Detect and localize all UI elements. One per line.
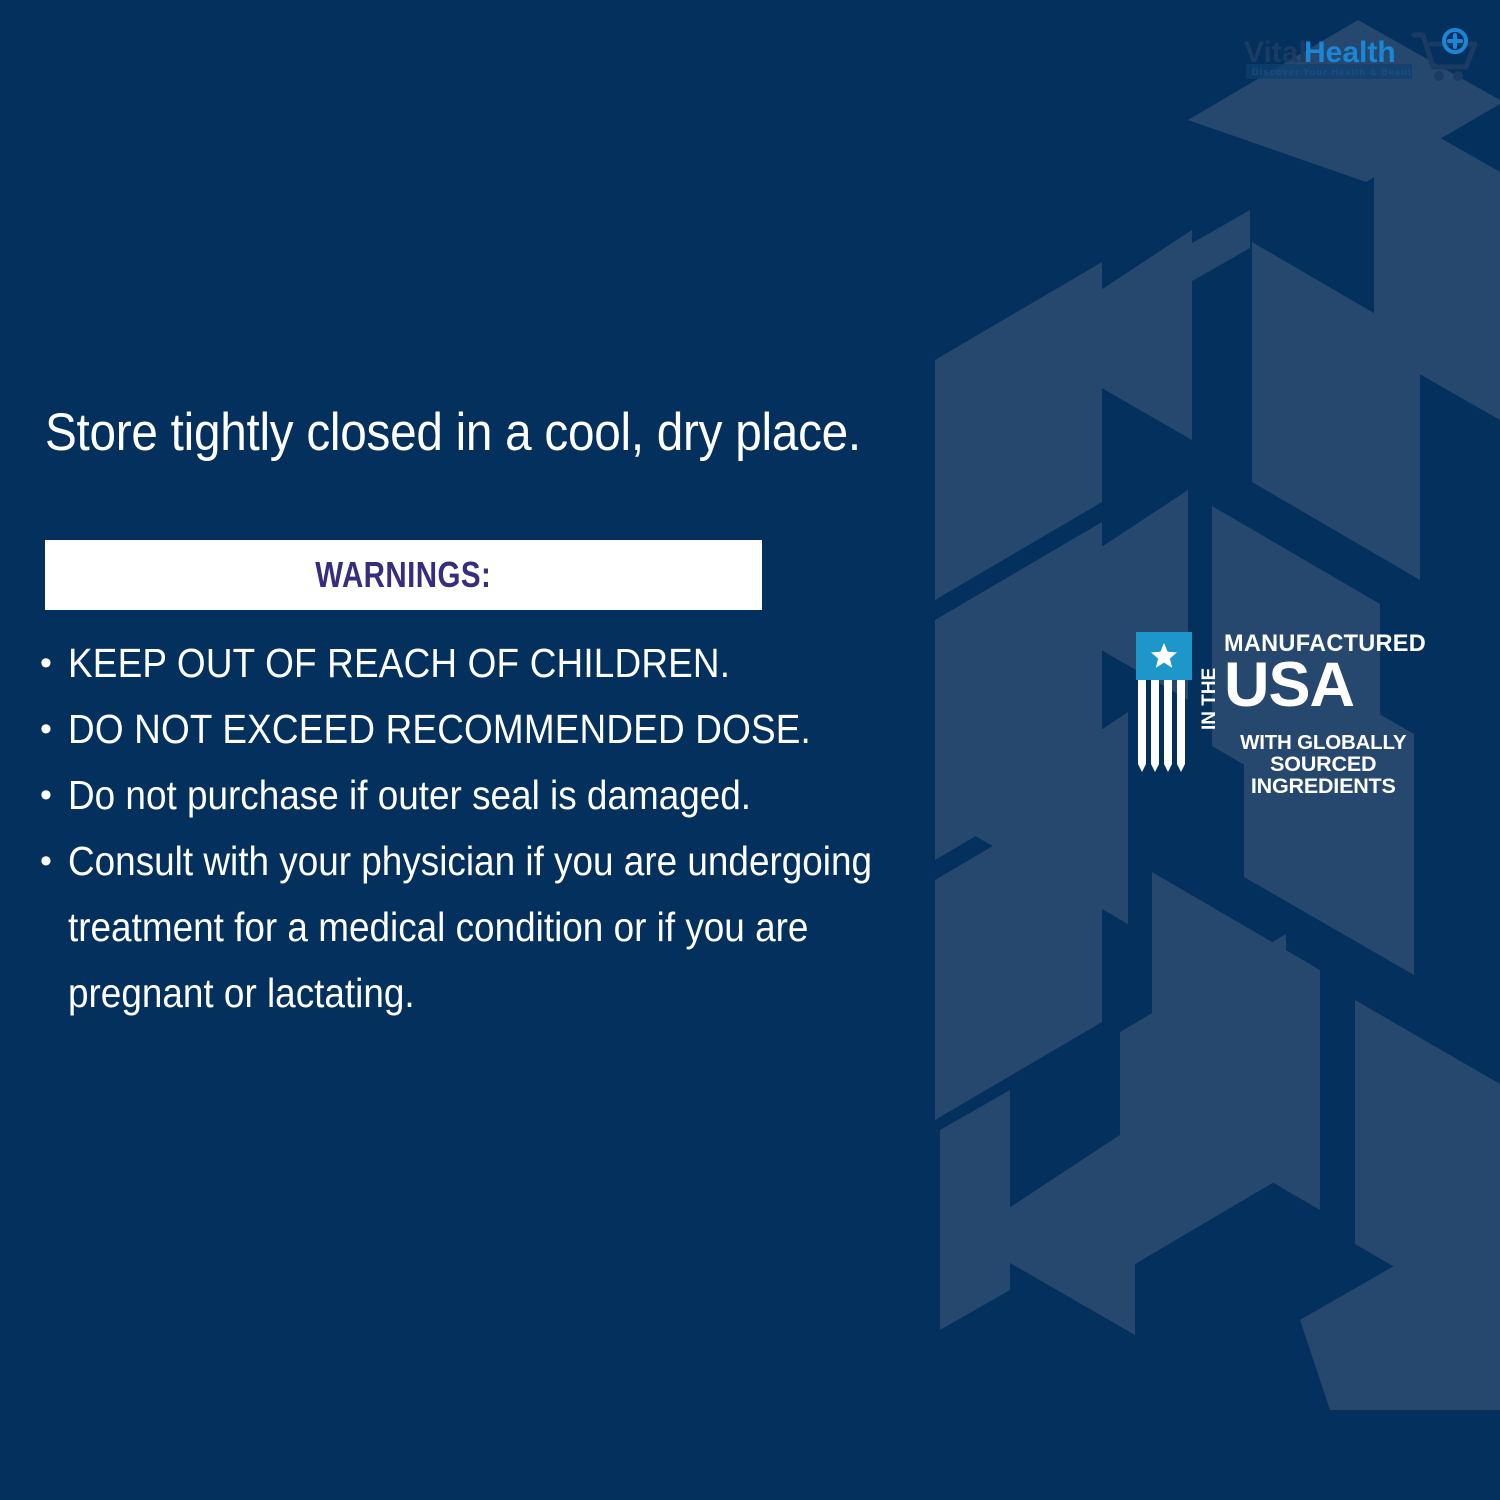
flag-stripes-icon: [1136, 680, 1192, 774]
list-item: • DO NOT EXCEED RECOMMENDED DOSE.: [40, 696, 1000, 762]
list-item: • Consult with your physician if you are…: [40, 828, 1000, 1026]
bullet-icon: •: [40, 762, 68, 828]
badge-in-the-label: IN THE: [1200, 634, 1219, 730]
logo-word-health: Health: [1304, 36, 1396, 69]
warnings-header-bar: WARNINGS:: [45, 540, 762, 610]
warning-text: KEEP OUT OF REACH OF CHILDREN.: [68, 630, 907, 696]
badge-usa-label: USA: [1224, 659, 1354, 713]
star-icon: [1149, 641, 1179, 671]
badge-star-box: [1136, 632, 1192, 680]
manufactured-in-usa-badge: IN THE MANUFACTURED USA WITH GLOBALLY SO…: [1136, 632, 1404, 774]
list-item: • KEEP OUT OF REACH OF CHILDREN.: [40, 630, 1000, 696]
badge-flag-graphic: [1136, 632, 1192, 774]
warnings-list: • KEEP OUT OF REACH OF CHILDREN. • DO NO…: [40, 630, 1000, 1026]
warnings-title: WARNINGS:: [316, 554, 492, 596]
brand-logo[interactable]: Vital Health Discover Your Health & Beau…: [1242, 24, 1478, 86]
cart-wheel-right-icon: [1453, 71, 1463, 81]
badge-sub-line-1: WITH GLOBALLY: [1206, 733, 1440, 754]
badge-text-block: IN THE MANUFACTURED USA WITH GLOBALLY SO…: [1192, 632, 1434, 774]
badge-sub-line-2: SOURCED INGREDIENTS: [1206, 754, 1440, 798]
logo-tagline: Discover Your Health & Beauty: [1252, 67, 1418, 77]
warning-text: Consult with your physician if you are u…: [68, 828, 907, 1026]
supplement-label-panel: Vital Health Discover Your Health & Beau…: [0, 0, 1500, 1500]
badge-manufactured-label: MANUFACTURED: [1224, 632, 1426, 657]
page-title: Store tightly closed in a cool, dry plac…: [45, 405, 945, 461]
warning-text: DO NOT EXCEED RECOMMENDED DOSE.: [68, 696, 907, 762]
bullet-icon: •: [40, 630, 68, 696]
bullet-icon: •: [40, 696, 68, 762]
logo-word-vital: Vital: [1244, 36, 1307, 69]
warning-text: Do not purchase if outer seal is damaged…: [68, 762, 907, 828]
bullet-icon: •: [40, 828, 68, 894]
cart-wheel-left-icon: [1434, 71, 1444, 81]
list-item: • Do not purchase if outer seal is damag…: [40, 762, 1000, 828]
